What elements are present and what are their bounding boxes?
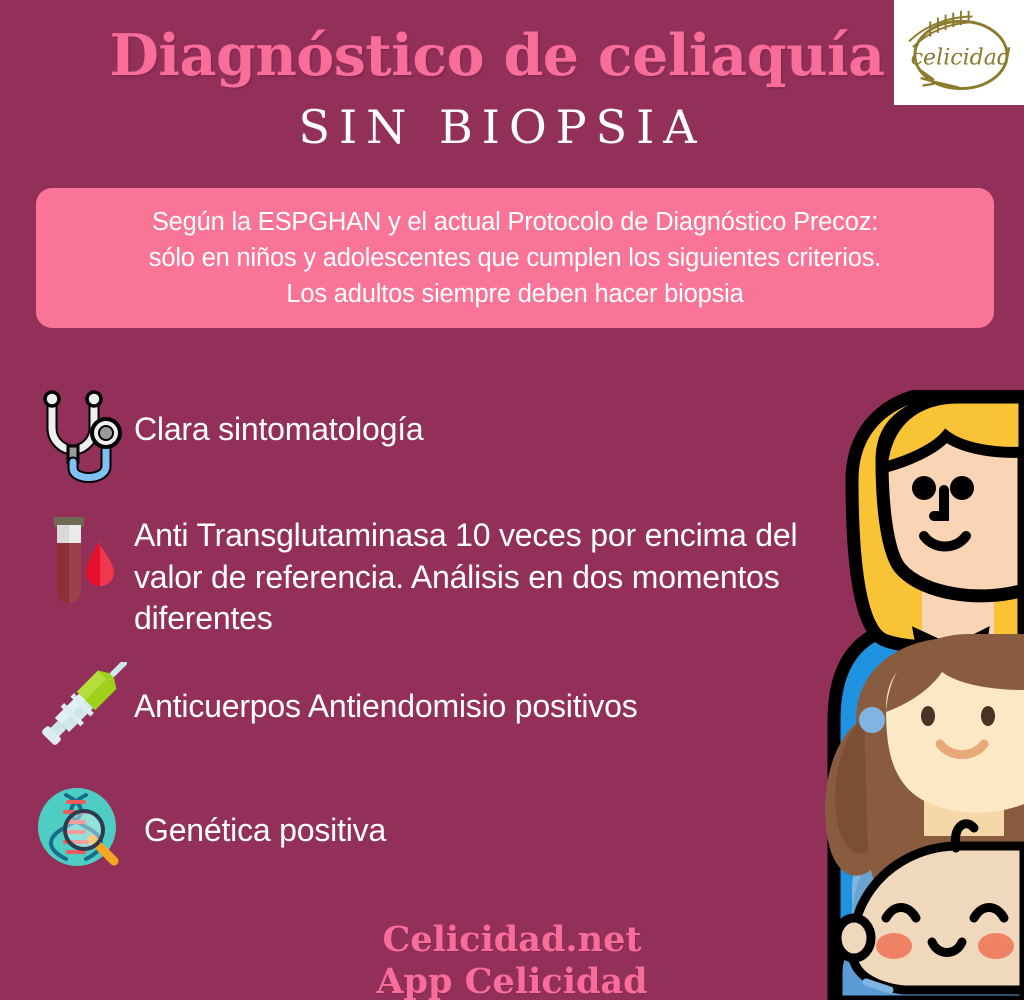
footer-website[interactable]: Celicidad.net <box>0 919 1024 962</box>
criteria-text: Anti Transglutaminasa 10 veces por encim… <box>134 505 834 640</box>
list-item: Anti Transglutaminasa 10 veces por encim… <box>24 505 884 640</box>
banner-line-2: sólo en niños y adolescentes que cumplen… <box>149 240 881 276</box>
header: Diagnóstico de celiaquía SIN BIOPSIA <box>0 26 1024 154</box>
footer: Celicidad.net App Celicidad <box>0 919 1024 1000</box>
syringe-icon <box>24 656 134 760</box>
blood-test-tube-icon <box>24 505 134 609</box>
criteria-list: Clara sintomatología Anti Transglutamina… <box>24 385 884 896</box>
criteria-text: Clara sintomatología <box>134 385 424 451</box>
criteria-text: Anticuerpos Antiendomisio positivos <box>134 656 638 728</box>
list-item: Clara sintomatología <box>24 385 884 489</box>
list-item: Anticuerpos Antiendomisio positivos <box>24 656 884 760</box>
criteria-text: Genética positiva <box>134 776 386 852</box>
footer-app[interactable]: App Celicidad <box>0 961 1024 1000</box>
page-subtitle: SIN BIOPSIA <box>0 100 1024 154</box>
banner-line-3: Los adultos siempre deben hacer biopsia <box>286 276 743 312</box>
info-banner: Según la ESPGHAN y el actual Protocolo d… <box>36 188 994 328</box>
stethoscope-icon <box>24 385 134 489</box>
list-item: Genética positiva <box>24 776 884 880</box>
banner-line-1: Según la ESPGHAN y el actual Protocolo d… <box>152 204 878 240</box>
page-title: Diagnóstico de celiaquía <box>0 26 1024 86</box>
dna-magnifier-icon <box>24 776 134 880</box>
